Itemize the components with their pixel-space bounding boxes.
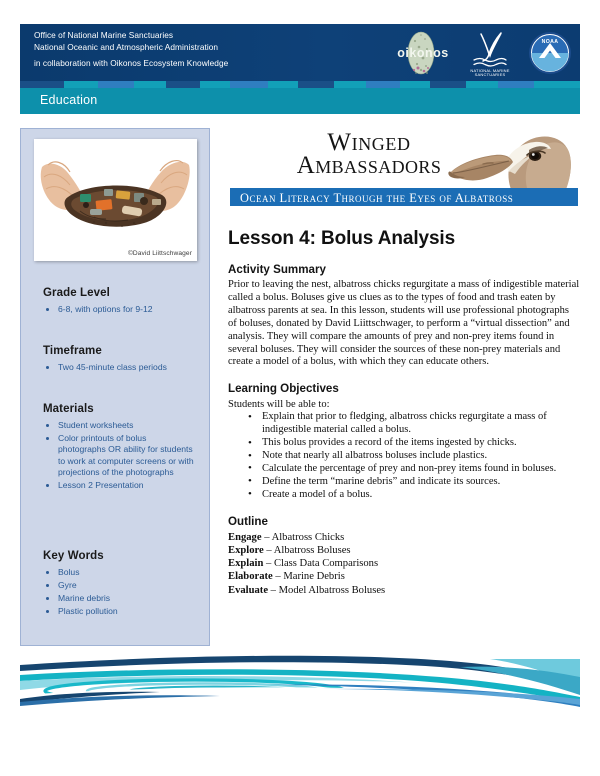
bolus-photo-image xyxy=(34,139,197,261)
sidebar-list-timeframe: Two 45-minute class periods xyxy=(43,362,195,373)
sidebar-section-key-words: Key Words Bolus Gyre Marine debris Plast… xyxy=(43,550,195,619)
list-item: Student worksheets xyxy=(43,420,195,431)
list-item: Create a model of a bolus. xyxy=(228,489,580,502)
list-item: Explain that prior to fledging, albatros… xyxy=(228,411,580,437)
sidebar-list-key-words: Bolus Gyre Marine debris Plastic polluti… xyxy=(43,567,195,617)
sidebar-section-materials: Materials Student worksheets Color print… xyxy=(43,403,195,493)
outline-value: Albatross Chicks xyxy=(272,532,345,543)
document-header: Office of National Marine Sanctuaries Na… xyxy=(20,24,580,81)
svg-text:NOAA: NOAA xyxy=(542,39,559,45)
photo-credit: ©David Liittschwager xyxy=(128,250,192,257)
sidebar-list-materials: Student worksheets Color printouts of bo… xyxy=(43,420,195,491)
section-heading-outline: Outline xyxy=(228,515,580,528)
outline-row: Evaluate – Model Albatross Boluses xyxy=(228,584,580,597)
list-item: 6-8, with options for 9-12 xyxy=(43,304,195,315)
banner-subtitle-bar: Ocean Literacy Through the Eyes of Albat… xyxy=(230,188,578,206)
sidebar-heading-grade-level: Grade Level xyxy=(43,287,195,299)
list-item: Plastic pollution xyxy=(43,606,195,617)
main-content: Winged Ambassadors xyxy=(228,128,580,597)
agency-line-2: National Oceanic and Atmospheric Adminis… xyxy=(34,42,228,54)
list-item: Gyre xyxy=(43,580,195,591)
outline-label: Evaluate xyxy=(228,585,268,596)
winged-ambassadors-banner: Winged Ambassadors xyxy=(228,128,580,216)
outline-label: Elaborate xyxy=(228,571,273,582)
section-heading-learning-objectives: Learning Objectives xyxy=(228,382,580,395)
noaa-logo: NOAA xyxy=(528,31,572,75)
sidebar-section-timeframe: Timeframe Two 45-minute class periods xyxy=(43,345,195,375)
outline-label: Engage xyxy=(228,532,262,543)
list-item: Color printouts of bolus photographs OR … xyxy=(43,433,195,479)
outline-row: Engage – Albatross Chicks xyxy=(228,531,580,544)
oikonos-logo: oikonos xyxy=(396,29,452,77)
sidebar-section-grade-level: Grade Level 6-8, with options for 9-12 xyxy=(43,287,195,317)
header-checker-strip xyxy=(20,81,580,88)
footer-wave-graphic xyxy=(20,655,580,710)
list-item: Two 45-minute class periods xyxy=(43,362,195,373)
sidebar-heading-materials: Materials xyxy=(43,403,195,415)
outline-value: Marine Debris xyxy=(283,571,344,582)
document-page: Office of National Marine Sanctuaries Na… xyxy=(0,0,600,776)
outline-label: Explain xyxy=(228,558,263,569)
list-item: Calculate the percentage of prey and non… xyxy=(228,463,580,476)
sidebar-heading-timeframe: Timeframe xyxy=(43,345,195,357)
agency-header-text: Office of National Marine Sanctuaries Na… xyxy=(34,30,228,70)
outline-dash: – xyxy=(263,558,274,569)
outline-row: Explain – Class Data Comparisons xyxy=(228,557,580,570)
bolus-photo: ©David Liittschwager xyxy=(34,139,197,261)
banner-subtitle: Ocean Literacy Through the Eyes of Albat… xyxy=(240,191,513,206)
outline-value: Albatross Boluses xyxy=(274,545,351,556)
info-sidebar: ©David Liittschwager Grade Level 6-8, wi… xyxy=(20,128,210,646)
list-item: Define the term “marine debris” and indi… xyxy=(228,476,580,489)
list-item: Note that nearly all albatross boluses i… xyxy=(228,450,580,463)
sidebar-heading-key-words: Key Words xyxy=(43,550,195,562)
outline-dash: – xyxy=(268,585,279,596)
list-item: Lesson 2 Presentation xyxy=(43,480,195,491)
outline-row: Elaborate – Marine Debris xyxy=(228,570,580,583)
agency-line-3: in collaboration with Oikonos Ecosystem … xyxy=(34,58,228,70)
activity-summary-text: Prior to leaving the nest, albatross chi… xyxy=(228,279,580,369)
list-item: Marine debris xyxy=(43,593,195,604)
svg-text:SANCTUARIES: SANCTUARIES xyxy=(475,72,506,77)
learning-objectives-intro: Students will be able to: xyxy=(228,398,580,411)
education-label: Education xyxy=(40,93,97,107)
section-heading-activity-summary: Activity Summary xyxy=(228,263,580,276)
outline-dash: – xyxy=(264,545,274,556)
outline-dash: – xyxy=(273,571,284,582)
outline-row: Explore – Albatross Boluses xyxy=(228,544,580,557)
outline-dash: – xyxy=(262,532,272,543)
page-title: Lesson 4: Bolus Analysis xyxy=(228,228,580,250)
header-logo-group: oikonos NATIONAL MARINE SANCTUARI xyxy=(396,26,572,79)
svg-text:oikonos: oikonos xyxy=(397,46,448,60)
learning-objectives-list: Explain that prior to fledging, albatros… xyxy=(228,411,580,501)
albatross-head-icon xyxy=(443,124,578,196)
outline-list: Engage – Albatross Chicks Explore – Alba… xyxy=(228,531,580,597)
national-marine-sanctuaries-logo: NATIONAL MARINE SANCTUARIES xyxy=(465,28,515,78)
agency-line-1: Office of National Marine Sanctuaries xyxy=(34,30,228,42)
education-band: Education xyxy=(20,88,580,114)
outline-label: Explore xyxy=(228,545,264,556)
list-item: This bolus provides a record of the item… xyxy=(228,437,580,450)
outline-value: Model Albatross Boluses xyxy=(279,585,386,596)
list-item: Bolus xyxy=(43,567,195,578)
outline-value: Class Data Comparisons xyxy=(274,558,378,569)
sidebar-list-grade-level: 6-8, with options for 9-12 xyxy=(43,304,195,315)
